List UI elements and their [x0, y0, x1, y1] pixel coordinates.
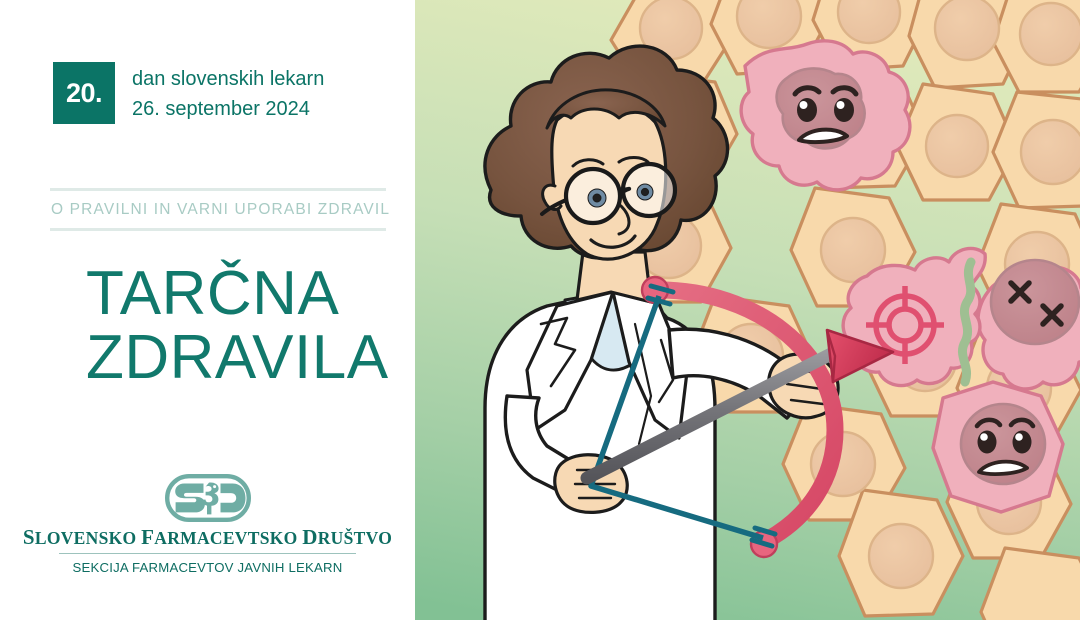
event-date: 26. september 2024 [132, 95, 324, 125]
left-text-panel: 20. dan slovenskih lekarn 26. september … [0, 0, 415, 620]
pharmacist-archer-illustration [415, 0, 1080, 620]
poster-root: 20. dan slovenskih lekarn 26. september … [0, 0, 1080, 620]
event-name: dan slovenskih lekarn [132, 65, 324, 95]
kicker-rule-bottom [50, 228, 386, 231]
title-line-1: TARČNA [86, 262, 396, 326]
illustration-panel [415, 0, 1080, 620]
kicker-block: O PRAVILNI IN VARNI UPORABI ZDRAVIL [50, 188, 386, 231]
edition-number: 20. [66, 80, 102, 107]
edition-badge: 20. [53, 62, 115, 124]
sfd-logo: SLOVENSKO FARMACEVTSKO DRUŠTVO SEKCIJA F… [0, 474, 415, 575]
title-line-2: ZDRAVILA [86, 326, 396, 390]
tumour-nucleus [991, 260, 1079, 344]
logo-organization-name: SLOVENSKO FARMACEVTSKO DRUŠTVO [0, 525, 415, 550]
kicker-text: O PRAVILNI IN VARNI UPORABI ZDRAVIL [50, 191, 386, 228]
header-lines: dan slovenskih lekarn 26. september 2024 [132, 62, 324, 124]
logo-divider [59, 553, 356, 554]
header-block: 20. dan slovenskih lekarn 26. september … [53, 62, 324, 124]
tumour-cell-worried-bottom [933, 382, 1063, 512]
logo-section-name: SEKCIJA FARMACEVTOV JAVNIH LEKARN [0, 560, 415, 575]
sfd-emblem-icon [165, 474, 251, 522]
page-title: TARČNA ZDRAVILA [86, 262, 396, 390]
